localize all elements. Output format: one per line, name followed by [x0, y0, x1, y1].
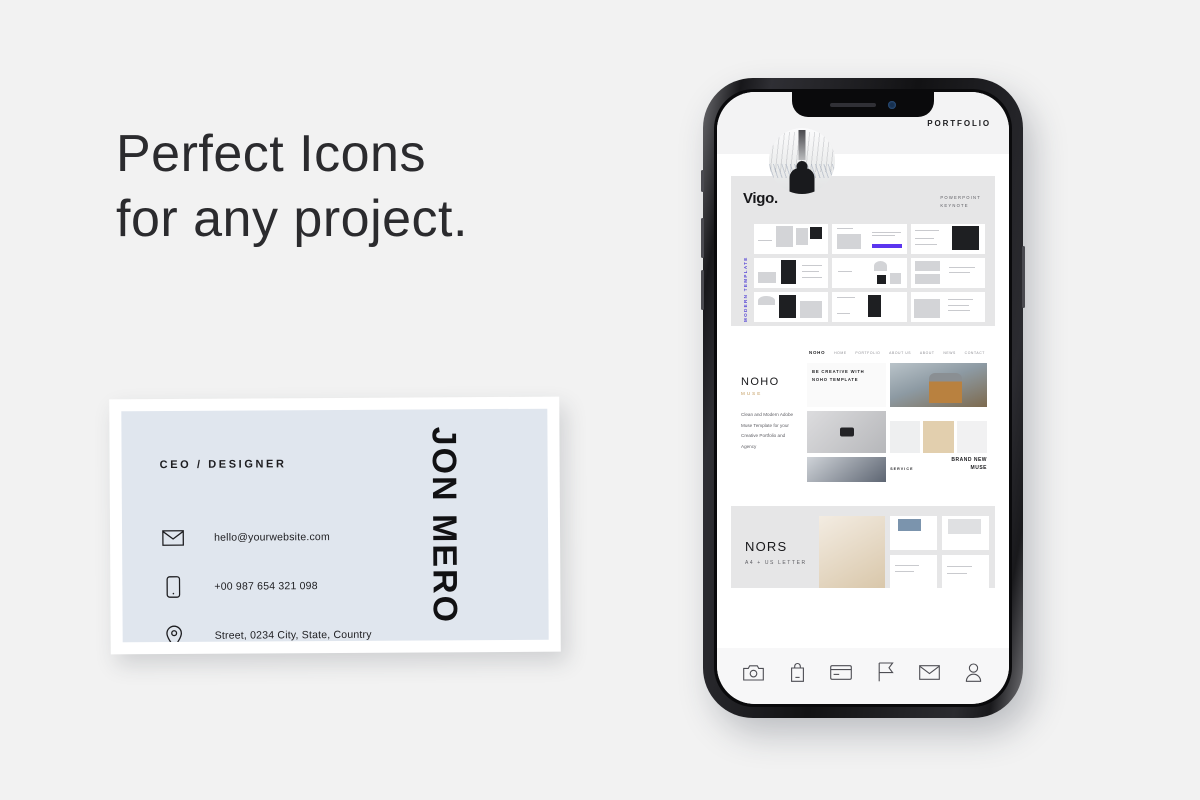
- phone-screen: PORTFOLIO Vigo. POWERPOINT: [717, 92, 1009, 704]
- slide-thumbnail: [754, 224, 828, 254]
- noho-info: NOHO MUSE Clean and Modern Adobe Muse Te…: [731, 342, 807, 490]
- noho-nav-item: NEWS: [943, 351, 956, 355]
- project-title-nors: NORS: [745, 539, 813, 554]
- volume-up-button[interactable]: [701, 218, 704, 258]
- nors-sheet: [942, 555, 989, 589]
- slide-thumbnail: [754, 292, 828, 322]
- slide-thumbnail-grid: [754, 224, 985, 326]
- avatar-column: [799, 130, 806, 160]
- noho-media-column: [890, 411, 987, 453]
- nors-sheet: [890, 555, 937, 589]
- nors-info: NORS A4 + US LETTER: [731, 539, 819, 588]
- noho-preview: NOHO HOME PORTFOLIO ABOUT US ABOUT NEWS …: [807, 342, 995, 490]
- noho-video-thumbnail[interactable]: [807, 411, 886, 453]
- noho-nav-item: HOME: [834, 351, 847, 355]
- noho-product-row: [890, 421, 987, 453]
- contact-value-address: Street, 0234 City, State, Country: [215, 629, 372, 642]
- noho-paragraph: [812, 387, 881, 394]
- contact-value-phone: +00 987 654 321 098: [214, 580, 317, 593]
- noho-product: [923, 421, 953, 453]
- project-subtitle-noho: MUSE: [741, 391, 799, 396]
- noho-nav-item: CONTACT: [965, 351, 985, 355]
- noho-product: [957, 421, 987, 453]
- nors-preview: [819, 516, 995, 588]
- nors-sheet: [890, 516, 937, 550]
- camera-icon[interactable]: [740, 659, 766, 685]
- noho-quote: [890, 411, 987, 417]
- earpiece-speaker: [830, 103, 876, 107]
- noho-hero-row: BE CREATIVE WITH NOHO TEMPLATE: [807, 363, 987, 407]
- project-card-vigo[interactable]: Vigo. POWERPOINT KEYNOTE MODERN TEMPLATE: [731, 176, 995, 326]
- user-icon[interactable]: [960, 659, 986, 685]
- phone-icon: [160, 574, 186, 600]
- project-meta-line-1: POWERPOINT: [940, 194, 981, 202]
- avatar[interactable]: [769, 128, 835, 194]
- envelope-icon[interactable]: [916, 659, 942, 685]
- business-card-face: CEO / DESIGNER hello@yourwebsite.com: [121, 409, 548, 643]
- project-title-noho: NOHO: [741, 376, 799, 388]
- noho-service-label: SERVICE: [890, 467, 913, 471]
- nors-column: [942, 516, 989, 588]
- flag-icon[interactable]: [872, 659, 898, 685]
- slide-thumbnail: [911, 258, 985, 288]
- project-vertical-label-vigo: MODERN TEMPLATE: [743, 224, 748, 326]
- slide-thumbnail: [754, 258, 828, 288]
- card-role: CEO / DESIGNER: [160, 458, 287, 471]
- noho-service-text: SERVICE: [890, 457, 942, 482]
- contact-list: hello@yourwebsite.com +00 987 654 321 09…: [160, 524, 372, 643]
- noho-big-text: BRAND NEW MUSE: [946, 457, 987, 482]
- noho-nav-item: ABOUT: [920, 351, 935, 355]
- location-pin-icon: [161, 623, 187, 642]
- slide-thumbnail: [911, 292, 985, 322]
- slide-thumbnail: [832, 292, 906, 322]
- nors-sheet: [942, 516, 989, 550]
- noho-headline: BE CREATIVE WITH NOHO TEMPLATE: [812, 368, 881, 383]
- slide-thumbnail: [832, 258, 906, 288]
- contact-row-address: Street, 0234 City, State, Country: [161, 622, 372, 643]
- business-card: CEO / DESIGNER hello@yourwebsite.com: [109, 397, 561, 655]
- power-button[interactable]: [1022, 246, 1025, 308]
- vigo-preview: MODERN TEMPLATE: [743, 224, 985, 326]
- page-title: Perfect Icons for any project.: [116, 122, 468, 252]
- front-camera-icon: [888, 101, 896, 109]
- project-description-noho: Clean and Modern Adobe Muse Template for…: [741, 410, 799, 452]
- noho-product: [890, 421, 920, 453]
- credit-card-icon[interactable]: [828, 659, 854, 685]
- silent-switch[interactable]: [701, 170, 704, 192]
- poster-canvas: Perfect Icons for any project. CEO / DES…: [0, 0, 1200, 800]
- noho-service-row: SERVICE BRAND NEW MUSE: [807, 457, 987, 482]
- contact-value-email: hello@yourwebsite.com: [214, 531, 330, 544]
- phone-mockup: PORTFOLIO Vigo. POWERPOINT: [703, 78, 1023, 718]
- noho-nav-item: ABOUT US: [889, 351, 911, 355]
- project-card-noho[interactable]: NOHO MUSE Clean and Modern Adobe Muse Te…: [731, 342, 995, 490]
- noho-media-row: [807, 411, 987, 453]
- nors-column: [890, 516, 937, 588]
- slide-thumbnail: [832, 224, 906, 254]
- noho-nav-brand: NOHO: [809, 350, 825, 355]
- project-list: Vigo. POWERPOINT KEYNOTE MODERN TEMPLATE: [717, 154, 1009, 588]
- phone-bezel: PORTFOLIO Vigo. POWERPOINT: [714, 89, 1012, 707]
- notch: [792, 92, 934, 117]
- noho-service-photo: [807, 457, 886, 482]
- avatar-person-body: [790, 168, 815, 194]
- app-title: PORTFOLIO: [927, 119, 991, 128]
- noho-service-block: SERVICE BRAND NEW MUSE: [890, 457, 987, 482]
- noho-nav-item: PORTFOLIO: [855, 351, 880, 355]
- volume-down-button[interactable]: [701, 270, 704, 310]
- noho-hero-text: BE CREATIVE WITH NOHO TEMPLATE: [807, 363, 886, 407]
- noho-navbar: NOHO HOME PORTFOLIO ABOUT US ABOUT NEWS …: [807, 350, 987, 359]
- project-subtitle-nors: A4 + US LETTER: [745, 560, 813, 566]
- bottom-tab-bar: [717, 648, 1009, 704]
- contact-row-phone: +00 987 654 321 098: [160, 573, 371, 600]
- project-meta-line-2: KEYNOTE: [940, 202, 981, 210]
- project-meta-vigo: POWERPOINT KEYNOTE: [940, 194, 981, 210]
- slide-thumbnail: [911, 224, 985, 254]
- noho-hero-photo: [890, 363, 987, 407]
- nors-sheet: [819, 516, 885, 588]
- shopping-bag-icon[interactable]: [784, 659, 810, 685]
- project-card-nors[interactable]: NORS A4 + US LETTER: [731, 506, 995, 588]
- card-name: JON MERO: [423, 426, 463, 624]
- contact-row-email: hello@yourwebsite.com: [160, 524, 371, 551]
- envelope-icon: [160, 525, 186, 551]
